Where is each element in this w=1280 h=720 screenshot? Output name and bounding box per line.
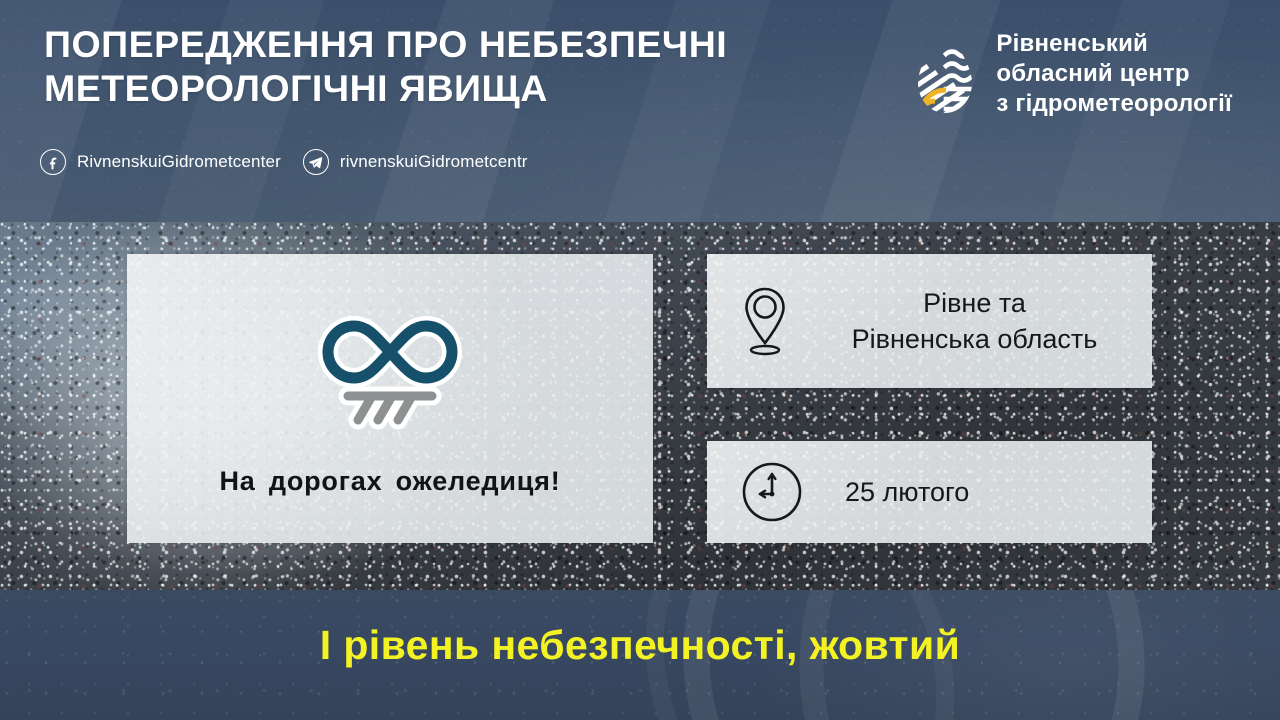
date-value: 25 лютого	[845, 477, 969, 508]
footer-band: І рівень небезпечності, жовтий	[0, 590, 1280, 720]
organization-name: Рівненський обласний центр з гідрометеор…	[996, 29, 1232, 120]
organization-name-line1: Рівненський	[996, 30, 1148, 57]
organization-logo: Рівненський обласний центр з гідрометеор…	[910, 28, 1232, 120]
page-title: ПОПЕРЕДЖЕННЯ ПРО НЕБЕЗПЕЧНІ МЕТЕОРОЛОГІЧ…	[44, 22, 834, 111]
telegram-icon	[303, 149, 329, 175]
telegram-handle: rivnenskuiGidrometcentr	[340, 152, 528, 172]
map-pin-icon	[741, 285, 789, 357]
location-line1: Рівне та	[815, 285, 1134, 321]
social-link-facebook[interactable]: RivnenskuiGidrometcenter	[40, 149, 281, 175]
hazard-card: На дорогах ожеледиця!	[127, 254, 653, 543]
location-name: Рівне та Рівненська область	[815, 285, 1134, 357]
location-line2: Рівненська область	[815, 321, 1134, 357]
location-card: Рівне та Рівненська область	[707, 254, 1152, 388]
organization-name-line2: обласний центр	[996, 60, 1189, 87]
social-links: RivnenskuiGidrometcenter rivnenskuiGidro…	[40, 149, 528, 175]
page-title-line2: МЕТЕОРОЛОГІЧНІ ЯВИЩА	[44, 66, 834, 110]
black-ice-road-icon	[310, 304, 470, 432]
header-band: ПОПЕРЕДЖЕННЯ ПРО НЕБЕЗПЕЧНІ МЕТЕОРОЛОГІЧ…	[0, 0, 1280, 222]
facebook-handle: RivnenskuiGidrometcenter	[77, 152, 281, 172]
organization-name-line3: з гідрометеорології	[996, 90, 1232, 117]
clock-icon	[741, 461, 803, 523]
date-card: 25 лютого	[707, 441, 1152, 543]
page-title-line1: ПОПЕРЕДЖЕННЯ ПРО НЕБЕЗПЕЧНІ	[44, 23, 727, 65]
warning-level-text: І рівень небезпечності, жовтий	[0, 622, 1280, 669]
water-drop-logo-icon	[910, 28, 980, 120]
weather-warning-poster: ПОПЕРЕДЖЕННЯ ПРО НЕБЕЗПЕЧНІ МЕТЕОРОЛОГІЧ…	[0, 0, 1280, 720]
facebook-icon	[40, 149, 66, 175]
social-link-telegram[interactable]: rivnenskuiGidrometcentr	[303, 149, 528, 175]
hazard-message: На дорогах ожеледиця!	[219, 466, 560, 497]
